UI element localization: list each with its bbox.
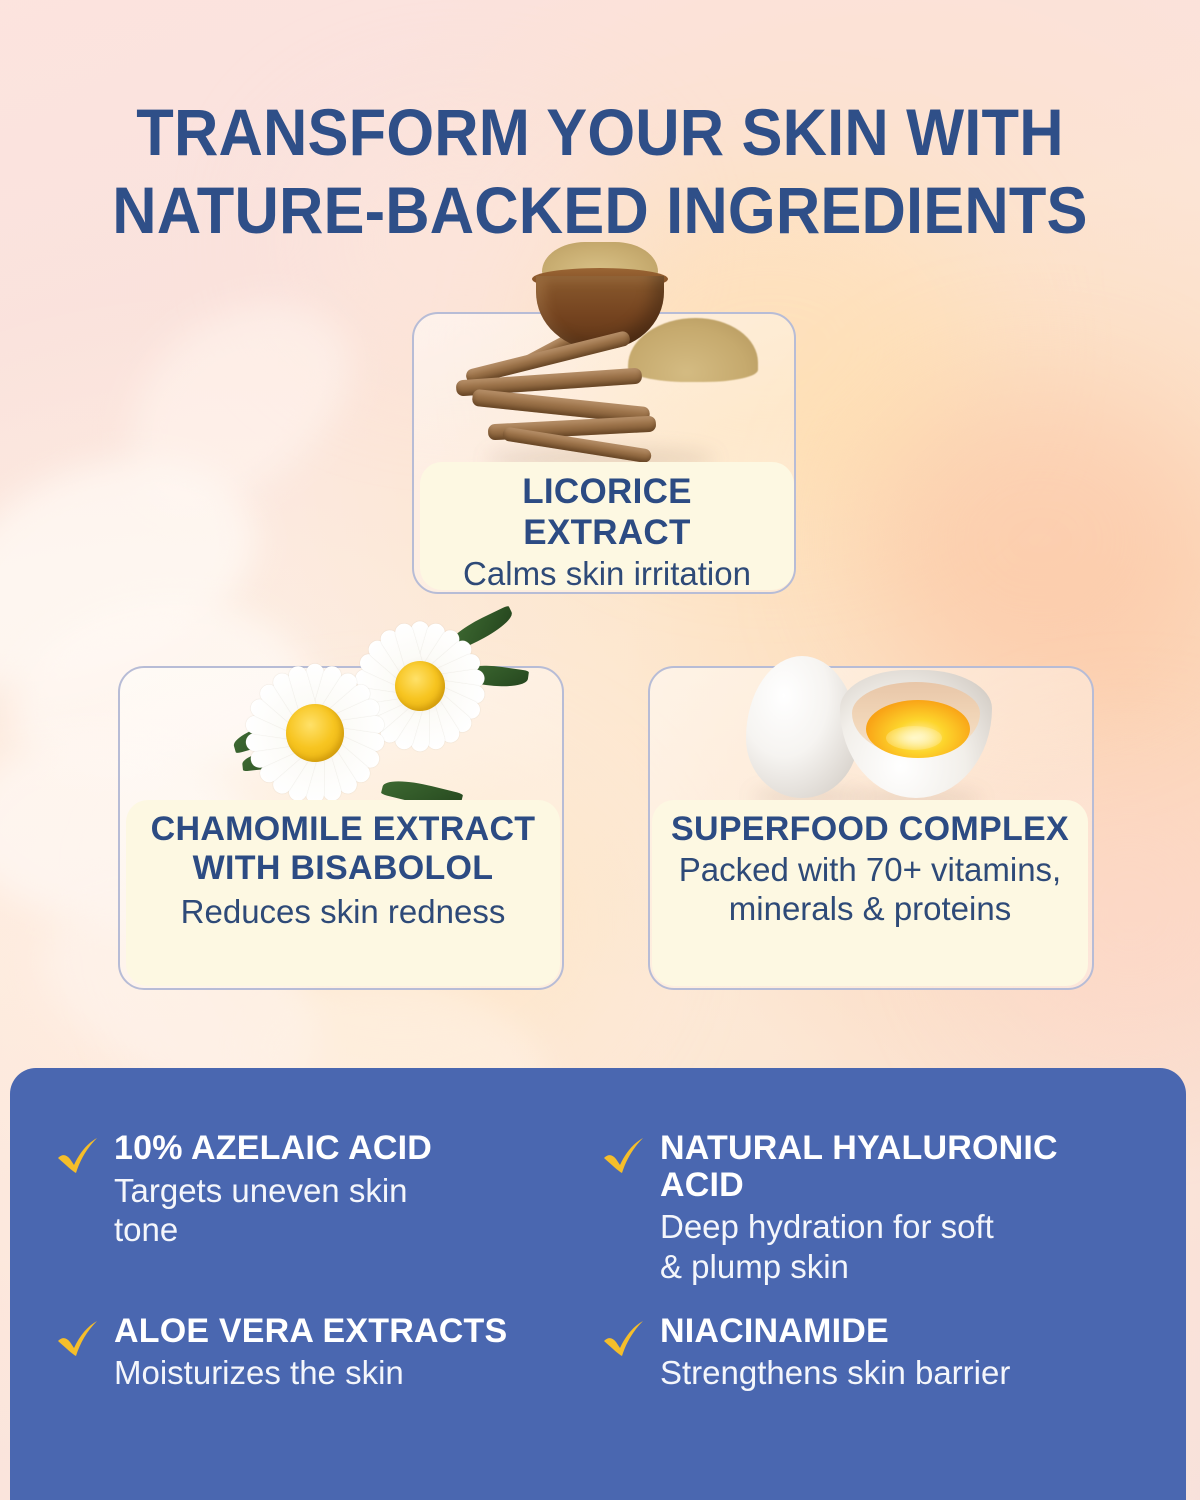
benefit-title: 10% AZELAIC ACID xyxy=(114,1130,574,1167)
benefit-item-aloe-vera: ALOE VERA EXTRACTS Moisturizes the skin xyxy=(54,1313,574,1393)
benefit-description: Moisturizes the skin xyxy=(114,1353,574,1393)
ingredients-infographic: TRANSFORM YOUR SKIN WITH NATURE-BACKED I… xyxy=(0,0,1200,1500)
ingredient-description: Packed with 70+ vitamins, minerals & pro… xyxy=(666,851,1074,929)
ingredient-description: Calms skin irritation xyxy=(434,555,780,594)
ingredient-title: LICORICE EXTRACT xyxy=(434,472,780,553)
benefit-description: Deep hydration for soft & plump skin xyxy=(660,1207,1142,1286)
headline-line-1: TRANSFORM YOUR SKIN WITH xyxy=(42,94,1158,172)
headline-line-2: NATURE-BACKED INGREDIENTS xyxy=(42,172,1158,250)
benefit-description: Targets uneven skin tone xyxy=(114,1171,574,1250)
check-icon xyxy=(600,1134,646,1180)
benefit-text: NIACINAMIDE Strengthens skin barrier xyxy=(660,1313,1142,1393)
benefit-text: ALOE VERA EXTRACTS Moisturizes the skin xyxy=(114,1313,574,1393)
benefit-item-hyaluronic-acid: NATURAL HYALURONIC ACID Deep hydration f… xyxy=(600,1130,1142,1287)
check-icon xyxy=(54,1134,100,1180)
benefit-title: ALOE VERA EXTRACTS xyxy=(114,1313,574,1350)
benefits-grid: 10% AZELAIC ACID Targets uneven skin ton… xyxy=(54,1130,1142,1393)
check-icon xyxy=(54,1317,100,1363)
check-icon xyxy=(600,1317,646,1363)
benefits-panel: 10% AZELAIC ACID Targets uneven skin ton… xyxy=(10,1068,1186,1500)
benefit-item-niacinamide: NIACINAMIDE Strengthens skin barrier xyxy=(600,1313,1142,1393)
benefit-description: Strengthens skin barrier xyxy=(660,1353,1142,1393)
benefit-text: NATURAL HYALURONIC ACID Deep hydration f… xyxy=(660,1130,1142,1287)
benefit-text: 10% AZELAIC ACID Targets uneven skin ton… xyxy=(114,1130,574,1250)
page-title: TRANSFORM YOUR SKIN WITH NATURE-BACKED I… xyxy=(42,94,1158,250)
ingredient-description: Reduces skin redness xyxy=(140,893,546,932)
benefit-item-azelaic-acid: 10% AZELAIC ACID Targets uneven skin ton… xyxy=(54,1130,574,1287)
benefit-title: NATURAL HYALURONIC ACID xyxy=(660,1130,1142,1203)
ingredient-label-chamomile: CHAMOMILE EXTRACT WITH BISABOLOL Reduces… xyxy=(126,800,560,986)
benefit-title: NIACINAMIDE xyxy=(660,1313,1142,1350)
ingredient-label-superfood: SUPERFOOD COMPLEX Packed with 70+ vitami… xyxy=(652,800,1088,986)
ingredient-title: SUPERFOOD COMPLEX xyxy=(666,810,1074,849)
ingredient-label-licorice: LICORICE EXTRACT Calms skin irritation xyxy=(420,462,794,590)
ingredient-title: CHAMOMILE EXTRACT WITH BISABOLOL xyxy=(140,810,546,889)
